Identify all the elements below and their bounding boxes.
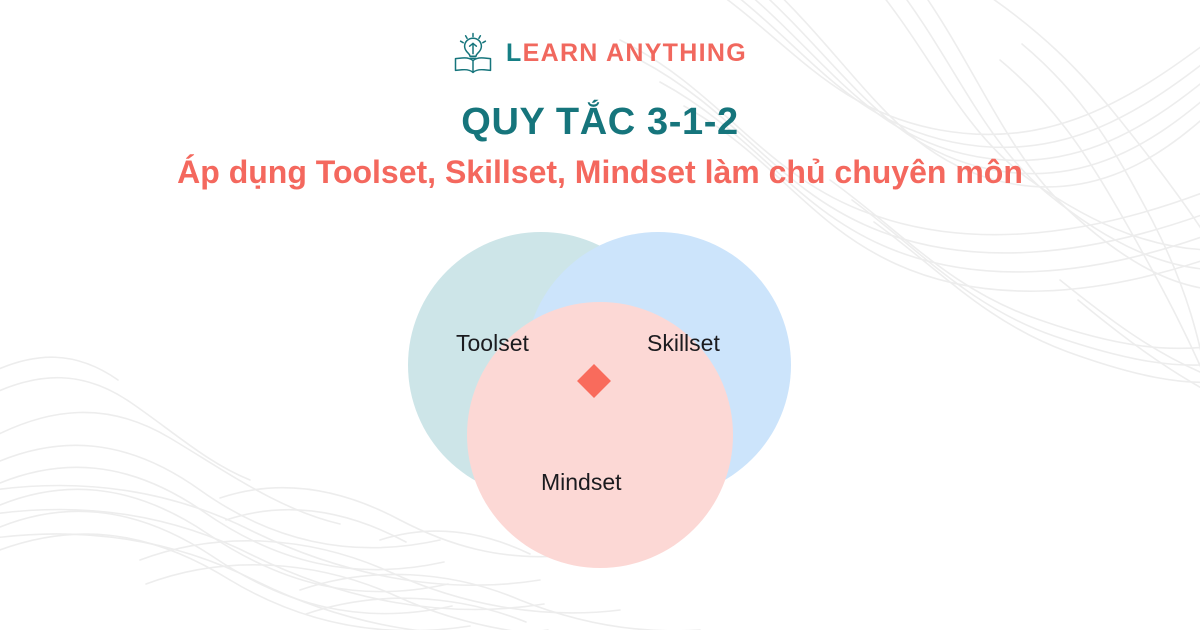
venn-label-toolset: Toolset [456,332,529,355]
brand-wordmark-first-letter: L [506,41,523,66]
brand-wordmark: LEARN ANYTHING [506,41,747,66]
brand-wordmark-rest: EARN ANYTHING [523,41,747,66]
venn-diagram: Toolset Skillset Mindset [375,222,825,582]
page-title: QUY TẮC 3-1-2 [0,101,1200,144]
venn-label-mindset: Mindset [541,471,622,494]
brand-logo[interactable]: LEARN ANYTHING [0,28,1200,78]
venn-label-skillset: Skillset [647,332,720,355]
venn-circles [375,222,825,582]
poster-canvas: LEARN ANYTHING QUY TẮC 3-1-2 Áp dụng Too… [0,0,1200,630]
page-subtitle: Áp dụng Toolset, Skillset, Mindset làm c… [0,154,1200,192]
book-lightbulb-icon [453,32,493,74]
